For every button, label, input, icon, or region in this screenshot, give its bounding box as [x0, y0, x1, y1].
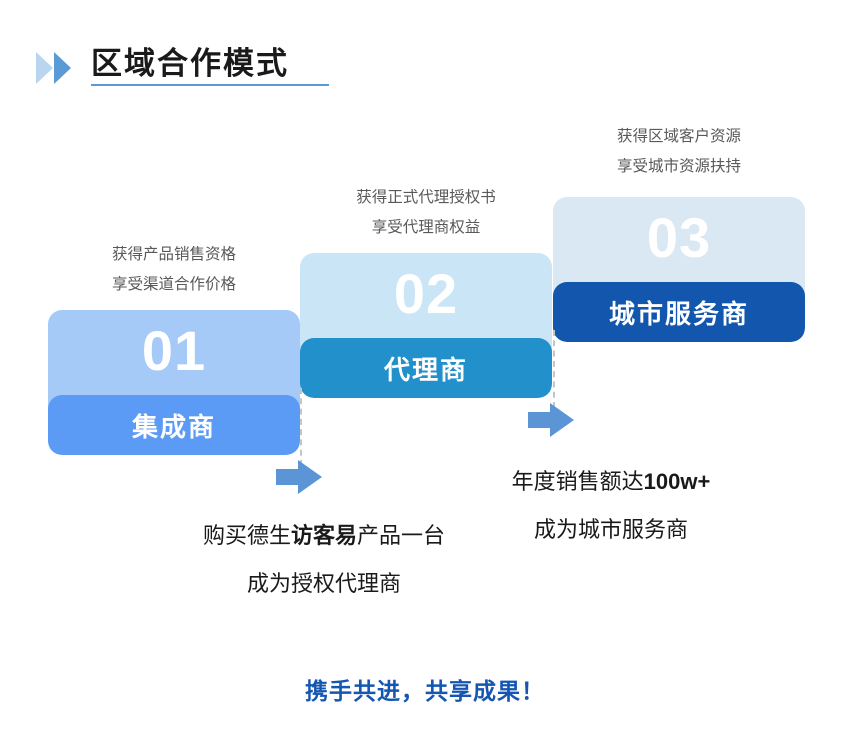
arrow-head [550, 403, 574, 437]
benefits-tier-01: 获得产品销售资格 享受渠道合作价格 [48, 240, 300, 300]
tier-card-bar: 代理商 [300, 338, 552, 398]
tier-card-01[interactable]: 01 集成商 [48, 310, 300, 455]
footer-slogan: 携手共进，共享成果！ [0, 672, 850, 706]
benefit-line: 享受城市资源扶持 [553, 152, 805, 182]
arrow-right-icon [276, 460, 322, 494]
benefit-line: 享受渠道合作价格 [48, 270, 300, 300]
benefit-line: 获得正式代理授权书 [300, 183, 552, 213]
dashed-connector-01 [300, 388, 302, 466]
tier-number: 01 [142, 322, 206, 381]
requirement-line-2: 成为授权代理商 [134, 560, 514, 608]
chevron-right-light-icon [36, 52, 53, 84]
tier-card-bar: 集成商 [48, 395, 300, 455]
tier-name: 集成商 [132, 407, 216, 444]
requirement-prefix: 购买德生 [203, 523, 291, 548]
benefits-tier-02: 获得正式代理授权书 享受代理商权益 [300, 183, 552, 243]
chevron-right-dark-icon [54, 52, 71, 84]
requirement-highlight: 100w+ [644, 469, 711, 494]
section-header: 区域合作模式 [36, 38, 289, 86]
tier-card-bar: 城市服务商 [553, 282, 805, 342]
benefits-tier-03: 获得区域客户资源 享受城市资源扶持 [553, 122, 805, 182]
chevron-group [36, 52, 69, 84]
tier-card-03[interactable]: 03 城市服务商 [553, 197, 805, 342]
title-underline [91, 84, 329, 86]
benefit-line: 获得产品销售资格 [48, 240, 300, 270]
requirement-block-02: 年度销售额达100w+ 成为城市服务商 [458, 458, 764, 554]
arrow-right-icon [528, 403, 574, 437]
requirement-line-1: 年度销售额达100w+ [458, 458, 764, 506]
arrow-shaft [528, 412, 552, 428]
requirement-line-1: 购买德生访客易产品一台 [134, 512, 514, 560]
dashed-connector-02 [553, 330, 555, 408]
benefit-line: 获得区域客户资源 [553, 122, 805, 152]
requirement-suffix: 产品一台 [357, 523, 445, 548]
tier-number: 02 [394, 265, 458, 324]
page-title: 区域合作模式 [91, 48, 289, 79]
infographic-canvas: 区域合作模式 获得产品销售资格 享受渠道合作价格 获得正式代理授权书 享受代理商… [0, 0, 850, 737]
arrow-shaft [276, 469, 300, 485]
requirement-block-01: 购买德生访客易产品一台 成为授权代理商 [134, 512, 514, 608]
tier-card-02[interactable]: 02 代理商 [300, 253, 552, 398]
benefit-line: 享受代理商权益 [300, 213, 552, 243]
requirement-prefix: 年度销售额达 [512, 469, 644, 494]
tier-name: 城市服务商 [609, 294, 749, 331]
tier-number: 03 [647, 209, 711, 268]
tier-name: 代理商 [384, 350, 468, 387]
requirement-highlight: 访客易 [291, 523, 357, 548]
arrow-head [298, 460, 322, 494]
title-wrapper: 区域合作模式 [91, 48, 289, 86]
requirement-line-2: 成为城市服务商 [458, 506, 764, 554]
